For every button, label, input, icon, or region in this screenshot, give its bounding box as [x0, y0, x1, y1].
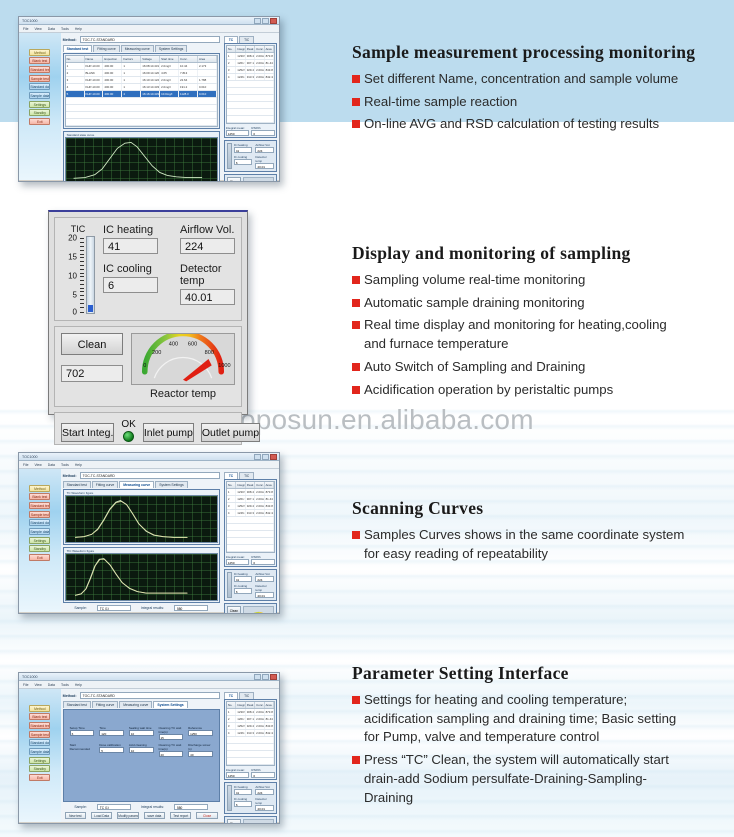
close-icon[interactable] — [270, 18, 277, 24]
right-results-panel: No. Integral Peak Conc. Area 1 1230.5 30… — [224, 699, 277, 780]
right-control-panel: IC heating 41 Airflow Vol. 224 IC coolin… — [224, 140, 277, 172]
outlet-pump-button[interactable]: Outlet pump — [201, 423, 260, 442]
table-header-cell: Conc. — [255, 702, 264, 708]
param-input[interactable]: 6 — [70, 730, 95, 736]
table-row-empty[interactable] — [227, 737, 274, 744]
param-input[interactable]: 10 — [129, 747, 154, 753]
menu-item-data[interactable]: Data — [48, 27, 55, 31]
cell: KHP-10.00 — [85, 91, 104, 97]
cell: 16:08:14:431 — [141, 63, 160, 69]
gauge-svg — [244, 607, 273, 614]
cell: 2.00mg/l — [255, 60, 264, 66]
gauge-tick-200: 200 — [152, 350, 161, 356]
bullet-square-icon — [352, 696, 360, 704]
sidebar-item-settings[interactable]: Settings — [29, 757, 50, 764]
param-group: Acid cleaning 10 — [129, 743, 154, 757]
sample-input[interactable]: TC (1) — [97, 605, 131, 611]
table-row-empty[interactable] — [227, 517, 274, 524]
table-row[interactable]: 1 1230.5 308.4 2.00mg/l 873.8 — [227, 489, 274, 496]
sidebar-item-blank-test[interactable]: Blank test — [29, 493, 50, 500]
gauge-tick-600: 600 — [188, 341, 197, 347]
cell: 2.00mg/l — [255, 503, 264, 509]
maximize-icon[interactable] — [262, 18, 269, 24]
menu-bar[interactable]: File View Data Tools Help — [19, 461, 279, 469]
bullet-text: Sampling volume real-time monitoring — [364, 271, 585, 290]
tab-measuring-curve[interactable]: Measuring curve — [119, 481, 154, 488]
integral-label: Integral results: — [141, 606, 164, 610]
menu-item-help[interactable]: Help — [75, 463, 82, 467]
load-data-button[interactable]: Load Data — [91, 812, 112, 819]
chart-panel: Standard state curve — [63, 131, 220, 182]
table-row[interactable]: 1 KHP-10.00 400.00 1 16:08:14:431 2.0mg/… — [66, 63, 217, 70]
tic-tick: 20 — [68, 234, 77, 243]
cell: 3 — [227, 503, 236, 509]
sidebar-item-sample-test[interactable]: Sample test — [29, 511, 50, 518]
minimize-icon[interactable] — [254, 18, 261, 24]
window-buttons[interactable] — [254, 674, 277, 680]
table-row-empty[interactable] — [66, 112, 217, 119]
cell: 81.44 — [265, 716, 274, 722]
right-tab-bar[interactable]: TC TIC — [224, 692, 277, 699]
parameter-grid: Setup Time 6 Time 120 Sealing wait time … — [70, 726, 213, 757]
cell: 308.4 — [246, 709, 255, 715]
new-test-button[interactable]: New test — [65, 613, 86, 614]
cell: 16:09:14:120 — [141, 70, 160, 76]
table-row-empty[interactable] — [227, 758, 274, 765]
bullet-square-icon — [352, 299, 360, 307]
sidebar-item-exit[interactable]: Exit — [29, 554, 50, 561]
method-row: Method: TOC-TC-STANDARD — [63, 472, 220, 479]
table-row-empty[interactable] — [227, 81, 274, 88]
table-row-empty[interactable] — [227, 531, 274, 538]
sidebar-item-standby[interactable]: Standby — [29, 765, 50, 772]
method-label: Method: — [63, 474, 77, 478]
method-row: Method: TOC-TC-STANDARD — [63, 36, 220, 43]
cell: 873.8 — [265, 489, 274, 495]
table-row[interactable]: 4 1246.1 313.3 2.00mg/l 842.48 — [227, 74, 274, 81]
param-input[interactable]: 40 — [188, 751, 213, 757]
cell: 4.65 — [160, 70, 179, 76]
table-row-empty[interactable] — [227, 116, 274, 123]
menu-item-help[interactable]: Help — [75, 683, 82, 687]
ic-heating-value[interactable]: 41 — [234, 789, 253, 795]
param-input[interactable]: 1250 — [188, 730, 213, 736]
table-row-empty[interactable] — [227, 751, 274, 758]
menu-item-view[interactable]: View — [34, 683, 41, 687]
table-row[interactable]: 2 1261.7 307.1 2.00mg/l 81.44 — [227, 60, 274, 67]
cell: 0.010 — [198, 91, 217, 97]
bullet-item: Acidification operation by peristaltic p… — [352, 381, 734, 400]
tab-system-settings[interactable]: System Settings — [155, 481, 188, 488]
tic-slider[interactable] — [227, 785, 232, 811]
sidebar-item-exit[interactable]: Exit — [29, 118, 50, 125]
app-screenshot-sample-measurement[interactable]: TOC1000 File View Data Tools Help Method… — [18, 16, 280, 182]
close-button[interactable]: Close — [196, 613, 217, 614]
detector-temp-label: Detector temp — [180, 263, 235, 287]
table-header-cell: No. — [227, 482, 236, 488]
table-row[interactable]: 3 1252.5 329.4 2.00mg/l 843.8 — [227, 723, 274, 730]
method-input[interactable]: TOC-TC-STANDARD — [80, 472, 220, 479]
cell: 873.8 — [265, 709, 274, 715]
app-body: Method Blank test Standard test Sample t… — [19, 469, 279, 612]
right-tab-bar[interactable]: TC TIC — [224, 36, 277, 43]
right-tab-tc[interactable]: TC — [224, 692, 238, 699]
rsd-value[interactable]: 0 — [251, 772, 275, 778]
cell: 842.48 — [265, 510, 274, 516]
table-row-empty[interactable] — [227, 88, 274, 95]
sidebar-item-standard-data[interactable]: Standard data — [29, 83, 50, 90]
param-input[interactable]: 5 — [99, 747, 124, 753]
menu-item-data[interactable]: Data — [48, 463, 55, 467]
cell: 400.00 — [103, 77, 122, 83]
sidebar[interactable]: Method Blank test Standard test Sample t… — [19, 469, 61, 612]
tab-standard-test[interactable]: Standard test — [63, 481, 91, 488]
detector-temp-label: Detector temp — [255, 584, 274, 592]
sidebar-item-settings[interactable]: Settings — [29, 101, 50, 108]
menu-item-data[interactable]: Data — [48, 683, 55, 687]
right-tab-tc[interactable]: TC — [224, 36, 238, 43]
integral-mean-value[interactable]: 1250 — [226, 130, 250, 136]
modify-parameter-button[interactable]: Modify parameter — [117, 812, 138, 819]
rsd-value[interactable]: 0 — [251, 130, 275, 136]
sidebar-item-sample-test[interactable]: Sample test — [29, 731, 50, 738]
airflow-value[interactable]: 224 — [255, 789, 274, 795]
ic-cooling-value[interactable]: 6 — [234, 159, 253, 165]
cell: 842.48 — [265, 74, 274, 80]
param-group: Dose calibration 5 — [99, 743, 124, 757]
table-row[interactable]: 4 KHP-10.00 400.00 1 16:13:14:433 2.0mg/… — [66, 84, 217, 91]
tic-tick: 10 — [68, 272, 77, 281]
table-header-cell: Conc. — [255, 46, 264, 52]
sidebar-item-sample-data[interactable]: Sample data — [29, 92, 50, 99]
sidebar-item-settings[interactable]: Settings — [29, 537, 50, 544]
action-button-row[interactable]: New test Load Data Modify parameter save… — [63, 613, 220, 614]
app-screenshot-parameter-setting[interactable]: TOC1000 File View Data Tools Help Method… — [18, 672, 280, 824]
save-data-button[interactable]: save data — [144, 812, 165, 819]
right-results-panel: No. Integral Peak Conc. Area 1 1230.5 30… — [224, 479, 277, 567]
table-row[interactable]: 2 1261.7 307.1 2.00mg/l 81.44 — [227, 496, 274, 503]
tab-bar[interactable]: Standard test Fitting curve Measuring cu… — [63, 481, 220, 488]
clean-group: Clean 702 — [227, 606, 241, 614]
cell: 329.4 — [246, 67, 255, 73]
sidebar-item-standard-test[interactable]: Standard test — [29, 502, 50, 509]
menu-item-help[interactable]: Help — [75, 27, 82, 31]
tab-system-settings[interactable]: System Settings — [155, 45, 188, 52]
table-row[interactable]: 3 1252.5 329.4 2.00mg/l 843.8 — [227, 503, 274, 510]
close-icon[interactable] — [270, 454, 277, 460]
save-data-button[interactable]: save data — [144, 613, 165, 614]
cell: 329.4 — [246, 503, 255, 509]
radio-group[interactable]: Start Recommended — [70, 743, 95, 757]
table-row-selected[interactable]: 5 KHP-10.00 400.00 4 16:16:14:433 10.0mg… — [66, 91, 217, 98]
right-tab-tc[interactable]: TC — [224, 472, 238, 479]
param-input[interactable]: 10 — [129, 730, 154, 736]
bullet-line: drain-add Sodium persulfate-Draining-Sam… — [364, 770, 669, 789]
sidebar-item-sample-test[interactable]: Sample test — [29, 75, 50, 82]
radio-label-recommended: Recommended — [70, 747, 95, 751]
cell: 10.0mg/l — [160, 91, 179, 97]
maximize-icon[interactable] — [262, 454, 269, 460]
sidebar-item-method[interactable]: Method — [29, 705, 50, 712]
window-buttons[interactable] — [254, 18, 277, 24]
menu-bar[interactable]: File View Data Tools Help — [19, 25, 279, 33]
integral-mean-group: Integral mean: 1250 — [226, 555, 250, 565]
close-button[interactable]: Close — [196, 812, 217, 819]
sidebar-item-blank-test[interactable]: Blank test — [29, 713, 50, 720]
ic-heating-value[interactable]: 41 — [234, 147, 253, 153]
cell: KHP-10.00 — [85, 77, 104, 83]
window-titlebar: TOC1000 — [19, 673, 279, 681]
sidebar-item-blank-test[interactable]: Blank test — [29, 57, 50, 64]
sidebar-item-standard-test[interactable]: Standard test — [29, 722, 50, 729]
tab-measuring-curve[interactable]: Measuring curve — [119, 701, 152, 708]
gauge-svg — [244, 178, 273, 182]
pump-controls-section: Start Integ. OK Inlet pump Outlet pump — [54, 412, 242, 445]
inlet-pump-button[interactable]: Inlet pump — [143, 423, 194, 442]
right-tab-tic[interactable]: TIC — [239, 36, 254, 43]
tab-measuring-curve[interactable]: Measuring curve — [121, 45, 154, 52]
close-icon[interactable] — [270, 674, 277, 680]
detector-temp-value[interactable]: 40.01 — [255, 592, 274, 598]
right-tab-tic[interactable]: TIC — [239, 472, 254, 479]
right-tab-bar[interactable]: TC TIC — [224, 472, 277, 479]
cell: 2.0mg/l — [160, 63, 179, 69]
bottom-fields: Sample: TC (1) Integral results: 580 — [63, 804, 220, 810]
tic-and-fields-section: TIC 20 15 10 5 0 — [54, 217, 242, 321]
table-header-row: No. Integral Peak Conc. Area — [227, 702, 274, 709]
detector-temp-input[interactable]: 40.01 — [180, 289, 235, 305]
table-row[interactable]: 1 1230.5 308.4 2.00mg/l 873.8 — [227, 53, 274, 60]
cell — [198, 70, 217, 76]
bullet-item: Set different Name, concentration and sa… — [352, 70, 734, 89]
bullet-text: Auto Switch of Sampling and Draining — [364, 358, 585, 377]
sidebar-item-standby[interactable]: Standby — [29, 109, 50, 116]
section-2-text: Display and monitoring of sampling Sampl… — [352, 243, 734, 403]
menu-item-file[interactable]: File — [23, 683, 28, 687]
cell: 2 — [227, 60, 236, 66]
table-row[interactable]: 4 1246.1 313.3 2.00mg/l 842.48 — [227, 730, 274, 737]
app-screenshot-scanning-curves[interactable]: TOC1000 File View Data Tools Help Method… — [18, 452, 280, 614]
sample-input[interactable]: TC (1) — [97, 804, 131, 810]
cell: 843.8 — [265, 67, 274, 73]
menu-item-file[interactable]: File — [23, 27, 28, 31]
integral-input[interactable]: 580 — [174, 804, 208, 810]
bullet-item: Sampling volume real-time monitoring — [352, 271, 734, 290]
table-row[interactable]: 4 1246.1 313.3 2.00mg/l 842.48 — [227, 510, 274, 517]
table-row-empty[interactable] — [66, 98, 217, 105]
main-area: Method: TOC-TC-STANDARD Standard test Fi… — [61, 469, 222, 612]
integral-mean-value[interactable]: 1250 — [226, 772, 250, 778]
clean-controls: Clean 702 — [61, 333, 123, 400]
table-row[interactable]: 3 1252.5 329.4 2.00mg/l 843.8 — [227, 67, 274, 74]
minimize-icon[interactable] — [254, 674, 261, 680]
integral-input[interactable]: 580 — [174, 605, 208, 611]
bottom-fields: Sample: TC (1) Integral results: 580 — [63, 605, 220, 611]
clean-button[interactable]: Clean — [227, 177, 241, 182]
app-body: Method Blank test Standard test Sample t… — [19, 689, 279, 822]
tab-system-settings[interactable]: System Settings — [153, 701, 187, 708]
status-led-icon — [123, 431, 134, 442]
detector-temp-group: Detector temp 40.01 — [255, 155, 274, 169]
results-table[interactable]: No. Integral Peak Conc. Area 1 1230.5 30… — [226, 481, 275, 553]
modify-parameter-button[interactable]: Modify parameter — [117, 613, 138, 614]
bullet-text: Automatic sample draining monitoring — [364, 294, 585, 313]
cell: 2.0mg/l — [160, 84, 179, 90]
table-row-empty[interactable] — [227, 109, 274, 116]
sidebar-item-standard-test[interactable]: Standard test — [29, 66, 50, 73]
menu-item-view[interactable]: View — [34, 463, 41, 467]
rsd-group: RSD%: 0 — [251, 768, 275, 778]
bullet-line: Settings for heating and cooling tempera… — [364, 691, 676, 710]
ic-heating-input[interactable]: 41 — [103, 238, 158, 254]
param-input[interactable]: 120 — [99, 730, 124, 736]
clean-button[interactable]: Clean — [227, 606, 241, 614]
gauge-tick-1000: 1000 — [218, 363, 230, 369]
data-table[interactable]: No. Name Expection Factors Voltage Start… — [65, 55, 218, 127]
standard-curve-chart — [65, 137, 218, 182]
tic-tickmarks — [80, 236, 84, 314]
right-summary: Integral mean: 1250 RSD%: 0 — [226, 555, 275, 565]
cell: 2 — [227, 716, 236, 722]
sidebar-item-standby[interactable]: Standby — [29, 545, 50, 552]
sidebar-item-method[interactable]: Method — [29, 485, 50, 492]
sidebar[interactable]: Method Blank test Standard test Sample t… — [19, 689, 61, 822]
table-row-empty[interactable] — [227, 545, 274, 552]
rsd-value[interactable]: 0 — [251, 559, 275, 565]
cell: 0.010 — [198, 84, 217, 90]
table-row[interactable]: 1 1230.5 308.4 2.00mg/l 873.8 — [227, 709, 274, 716]
right-pane: TC TIC No. Integral Peak Conc. Area 1 12… — [222, 689, 279, 822]
cell: 400.00 — [103, 70, 122, 76]
detector-temp-value[interactable]: 40.01 — [255, 163, 274, 169]
airflow-value[interactable]: 224 — [255, 576, 274, 582]
cell: 313.3 — [246, 730, 255, 736]
cell: 5 — [66, 91, 85, 97]
param-input[interactable]: 20 — [159, 751, 184, 757]
detector-temp-value[interactable]: 40.01 — [255, 805, 274, 811]
bullet-line: acidification sampling and draining time… — [364, 710, 676, 729]
menu-item-file[interactable]: File — [23, 463, 28, 467]
table-header-row: No. Integral Peak Conc. Area — [227, 482, 274, 489]
tic-slider[interactable] — [227, 572, 232, 598]
table-row-empty[interactable] — [66, 105, 217, 112]
param-group: Cleaning TC wait time(s) 20 — [159, 743, 184, 757]
test-report-button[interactable]: Test report — [170, 613, 191, 614]
airflow-vol-label: Airflow Vol. — [180, 224, 235, 236]
cell: 308.4 — [246, 489, 255, 495]
sidebar-item-standard-data[interactable]: Standard data — [29, 739, 50, 746]
minimize-icon[interactable] — [254, 454, 261, 460]
ic-cooling-input[interactable]: 6 — [103, 277, 158, 293]
sidebar-item-sample-data[interactable]: Sample data — [29, 528, 50, 535]
cell: 1252.5 — [236, 723, 245, 729]
load-data-button[interactable]: Load Data — [91, 613, 112, 614]
sidebar-item-exit[interactable]: Exit — [29, 774, 50, 781]
tab-standard-test[interactable]: Standard test — [63, 45, 93, 52]
airflow-vol-input[interactable]: 224 — [180, 238, 235, 254]
table-row[interactable]: 2 1261.7 307.1 2.00mg/l 81.44 — [227, 716, 274, 723]
section-4-title: Parameter Setting Interface — [352, 663, 734, 684]
clean-button[interactable]: Clean — [61, 333, 123, 355]
tab-fitting-curve[interactable]: Fitting curve — [92, 701, 118, 708]
table-row-empty[interactable] — [227, 95, 274, 102]
bullet-text: On-line AVG and RSD calculation of testi… — [364, 115, 659, 134]
table-row[interactable]: 2 BLANK 400.00 1 16:09:14:120 4.65 7.813 — [66, 70, 217, 77]
tab-fitting-curve[interactable]: Fitting curve — [92, 481, 118, 488]
param-group: Sealing wait time 10 — [129, 726, 154, 740]
param-input[interactable]: 15 — [159, 734, 184, 740]
table-row-empty[interactable] — [227, 538, 274, 545]
bullet-line: Press “TC” Clean, the system will automa… — [364, 751, 669, 770]
control-fields: IC heating 41 Airflow Vol. 224 IC coolin… — [234, 785, 274, 811]
table-row-empty[interactable] — [227, 524, 274, 531]
param-label: Discharge screw (s) — [188, 743, 213, 751]
menu-item-tools[interactable]: Tools — [61, 463, 69, 467]
integral-mean-value[interactable]: 1250 — [226, 559, 250, 565]
bullet-square-icon — [352, 98, 360, 106]
bullet-line: Draining — [364, 789, 669, 808]
table-row-empty[interactable] — [227, 102, 274, 109]
results-table[interactable]: No. Integral Peak Conc. Area 1 1230.5 30… — [226, 701, 275, 766]
results-table[interactable]: No. Integral Peak Conc. Area 1 1230.5 30… — [226, 45, 275, 124]
cell: KHP-10.00 — [85, 84, 104, 90]
cell: 1.788 — [198, 77, 217, 83]
ic-heating-value[interactable]: 41 — [234, 576, 253, 582]
window-titlebar: TOC1000 — [19, 453, 279, 461]
window-buttons[interactable] — [254, 454, 277, 460]
cell: 22.64 — [179, 77, 198, 83]
maximize-icon[interactable] — [262, 674, 269, 680]
ic-cooling-value[interactable]: 6 — [234, 801, 253, 807]
sidebar-item-standard-data[interactable]: Standard data — [29, 519, 50, 526]
cell: 313.3 — [246, 510, 255, 516]
sidebar-item-sample-data[interactable]: Sample data — [29, 748, 50, 755]
new-test-button[interactable]: New test — [65, 812, 86, 819]
tab-bar[interactable]: Standard test Fitting curve Measuring cu… — [63, 701, 220, 708]
menu-bar[interactable]: File View Data Tools Help — [19, 681, 279, 689]
tab-fitting-curve[interactable]: Fitting curve — [93, 45, 119, 52]
table-row-empty[interactable] — [227, 744, 274, 751]
sidebar[interactable]: Method Blank test Standard test Sample t… — [19, 33, 61, 180]
right-summary: Integral mean: 1250 RSD%: 0 — [226, 768, 275, 778]
right-tab-tic[interactable]: TIC — [239, 692, 254, 699]
menu-item-tools[interactable]: Tools — [61, 683, 69, 687]
clean-button[interactable]: Clean — [227, 819, 241, 824]
watermark: toposun.en.alibaba.com — [232, 404, 534, 436]
start-integ-button[interactable]: Start Integ. — [61, 423, 114, 442]
tab-standard-test[interactable]: Standard test — [63, 701, 91, 708]
sampling-monitor-panel[interactable]: TIC 20 15 10 5 0 — [48, 210, 248, 415]
action-button-row[interactable]: New test Load Data Modify parameter save… — [63, 812, 220, 819]
tic-slider[interactable] — [227, 143, 232, 169]
airflow-group: Airflow Vol. 224 — [255, 572, 274, 582]
cell: 2.00mg/l — [255, 716, 264, 722]
airflow-value[interactable]: 224 — [255, 147, 274, 153]
cell: 2.173 — [198, 63, 217, 69]
table-row-empty[interactable] — [66, 119, 217, 126]
table-row[interactable]: 3 KHP-10.00 400.00 1 16:10:14:122 2.0mg/… — [66, 77, 217, 84]
method-input[interactable]: TOC-TC-STANDARD — [80, 692, 220, 699]
gauge-tick-0: 0 — [143, 363, 146, 369]
ic-cooling-value[interactable]: 6 — [234, 588, 253, 594]
tab-bar[interactable]: Standard test Fitting curve Measuring cu… — [63, 45, 220, 52]
test-report-button[interactable]: Test report — [170, 812, 191, 819]
table-header-cell: Voltage — [141, 56, 160, 62]
method-input[interactable]: TOC-TC-STANDARD — [80, 36, 220, 43]
menu-item-view[interactable]: View — [34, 27, 41, 31]
sidebar-item-method[interactable]: Method — [29, 49, 50, 56]
menu-item-tools[interactable]: Tools — [61, 27, 69, 31]
